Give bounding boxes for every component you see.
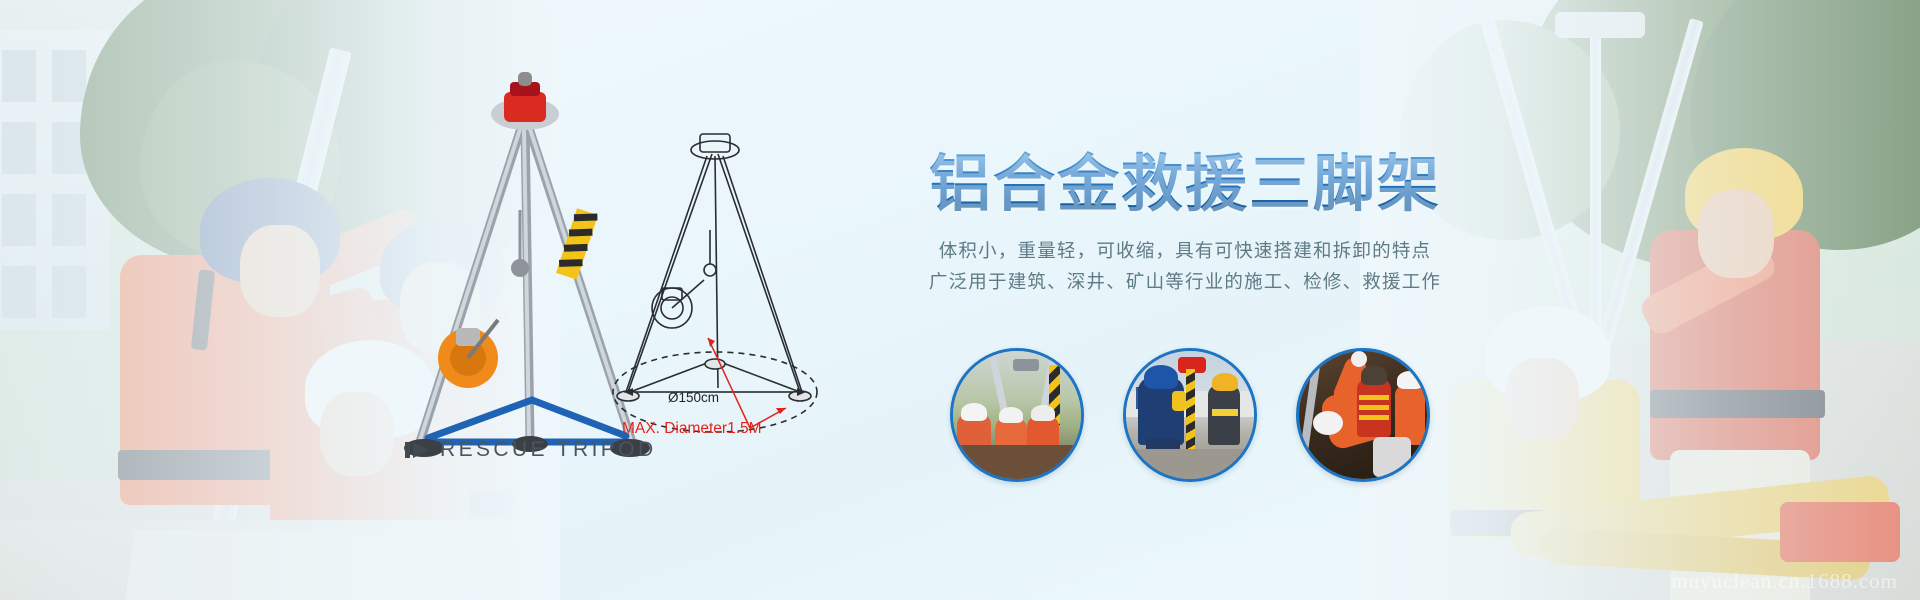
headline-block: 铝合金救援三脚架 体积小，重量轻，可收缩，具有可快速搭建和拆卸的特点 广泛用于建… [905,150,1465,297]
max-diameter-label: MAX. Diameter1.5M [622,420,762,438]
subtitle-line-1: 体积小，重量轻，可收缩，具有可快速搭建和拆卸的特点 [905,237,1465,266]
gallery-item-2[interactable] [1123,348,1257,482]
watermark: muyuclean.cn.1688.com [1671,569,1898,594]
play-marker-icon [405,440,431,460]
product-banner: Ø150cm MAX. Diameter1.5M RESCUE TRIPOD 铝… [0,0,1920,600]
wordmark-text: RESCUE TRIPOD [440,438,657,462]
photo-gallery [950,345,1430,485]
subtitle-line-2: 广泛用于建筑、深井、矿山等行业的施工、检修、救援工作 [905,268,1465,297]
page-title: 铝合金救援三脚架 [905,150,1465,219]
gallery-item-1[interactable] [950,348,1084,482]
diameter-label: Ø150cm [668,390,719,405]
rescue-tripod-wordmark: RESCUE TRIPOD [405,438,657,462]
gallery-item-3[interactable] [1296,348,1430,482]
background-photo-right [1360,0,1920,600]
